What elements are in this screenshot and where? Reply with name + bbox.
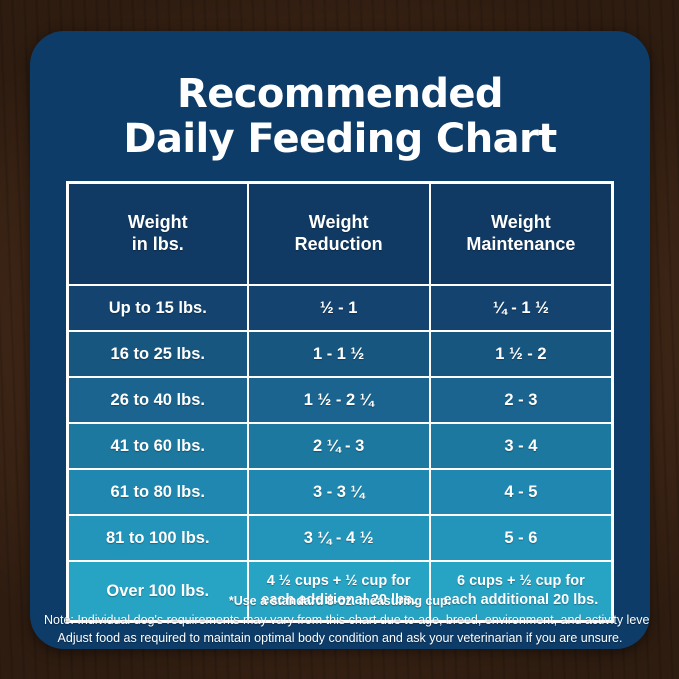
cell-weight: 61 to 80 lbs. <box>68 469 248 515</box>
page-title-line-2: Daily Feeding Chart <box>60 117 620 162</box>
table-row: Up to 15 lbs. ½ - 1 ¼ - 1 ½ <box>68 285 612 331</box>
cell-weight: 26 to 40 lbs. <box>68 377 248 423</box>
table-header-row: Weight in lbs. Weight Reduction Weight M… <box>68 183 612 285</box>
cell-maintenance: 2 - 3 <box>430 377 612 423</box>
cell-reduction: ½ - 1 <box>248 285 430 331</box>
table-row: 61 to 80 lbs. 3 - 3 ¼ 4 - 5 <box>68 469 612 515</box>
column-header-weight-line-1: Weight <box>75 212 241 234</box>
footnote-note-line-1: Note: Individual dog's requirements may … <box>44 611 636 629</box>
footnote-measuring-cup: *Use a standard 8-oz. measuring cup. <box>44 593 636 611</box>
cell-reduction: 3 ¼ - 4 ½ <box>248 515 430 561</box>
cell-maintenance-line-1: 6 cups + ½ cup for <box>437 572 605 591</box>
cell-weight: Up to 15 lbs. <box>68 285 248 331</box>
page-title-line-1: Recommended <box>60 72 620 117</box>
column-header-reduction: Weight Reduction <box>248 183 430 285</box>
table-body: Up to 15 lbs. ½ - 1 ¼ - 1 ½ 16 to 25 lbs… <box>68 285 612 621</box>
cell-maintenance: 5 - 6 <box>430 515 612 561</box>
footnote-note-line-2: Adjust food as required to maintain opti… <box>44 629 636 647</box>
cell-reduction: 1 - 1 ½ <box>248 331 430 377</box>
column-header-reduction-line-1: Weight <box>255 212 423 234</box>
table-row: 26 to 40 lbs. 1 ½ - 2 ¼ 2 - 3 <box>68 377 612 423</box>
column-header-reduction-line-2: Reduction <box>255 234 423 256</box>
column-header-maintenance-line-1: Weight <box>437 212 605 234</box>
cell-reduction-line-1: 4 ½ cups + ½ cup for <box>255 572 423 591</box>
footnotes: *Use a standard 8-oz. measuring cup. Not… <box>44 593 636 647</box>
column-header-maintenance-line-2: Maintenance <box>437 234 605 256</box>
cell-weight: 81 to 100 lbs. <box>68 515 248 561</box>
table-row: 81 to 100 lbs. 3 ¼ - 4 ½ 5 - 6 <box>68 515 612 561</box>
cell-weight: 41 to 60 lbs. <box>68 423 248 469</box>
cell-maintenance: 1 ½ - 2 <box>430 331 612 377</box>
column-header-weight-line-2: in lbs. <box>75 234 241 256</box>
cell-weight: 16 to 25 lbs. <box>68 331 248 377</box>
column-header-weight: Weight in lbs. <box>68 183 248 285</box>
cell-maintenance: 3 - 4 <box>430 423 612 469</box>
cell-maintenance: ¼ - 1 ½ <box>430 285 612 331</box>
cell-reduction: 1 ½ - 2 ¼ <box>248 377 430 423</box>
page-title: Recommended Daily Feeding Chart <box>30 31 650 162</box>
feeding-chart-card: Recommended Daily Feeding Chart Weight i… <box>30 31 650 649</box>
table-row: 41 to 60 lbs. 2 ¼ - 3 3 - 4 <box>68 423 612 469</box>
cell-maintenance: 4 - 5 <box>430 469 612 515</box>
feeding-table-container: Weight in lbs. Weight Reduction Weight M… <box>66 181 614 623</box>
cell-reduction: 2 ¼ - 3 <box>248 423 430 469</box>
feeding-table: Weight in lbs. Weight Reduction Weight M… <box>66 181 614 623</box>
cell-reduction: 3 - 3 ¼ <box>248 469 430 515</box>
column-header-maintenance: Weight Maintenance <box>430 183 612 285</box>
table-header: Weight in lbs. Weight Reduction Weight M… <box>68 183 612 285</box>
table-row: 16 to 25 lbs. 1 - 1 ½ 1 ½ - 2 <box>68 331 612 377</box>
